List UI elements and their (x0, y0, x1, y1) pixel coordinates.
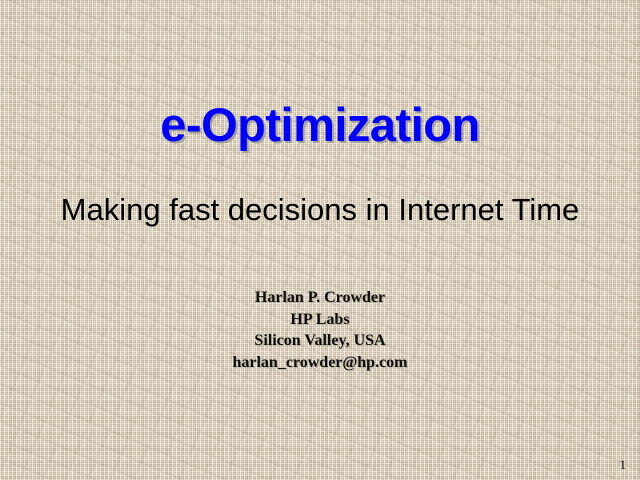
author-organization: HP Labs (0, 309, 640, 331)
author-location: Silicon Valley, USA (0, 330, 640, 352)
author-name: Harlan P. Crowder (0, 287, 640, 309)
author-block: Harlan P. Crowder HP Labs Silicon Valley… (0, 287, 640, 373)
page-number: 1 (620, 458, 627, 472)
slide-subtitle: Making fast decisions in Internet Time (0, 191, 640, 229)
presentation-slide: e-Optimization Making fast decisions in … (0, 0, 640, 480)
author-email: harlan_crowder@hp.com (0, 352, 640, 374)
slide-title: e-Optimization (0, 97, 640, 153)
slide-content: e-Optimization Making fast decisions in … (0, 0, 640, 480)
